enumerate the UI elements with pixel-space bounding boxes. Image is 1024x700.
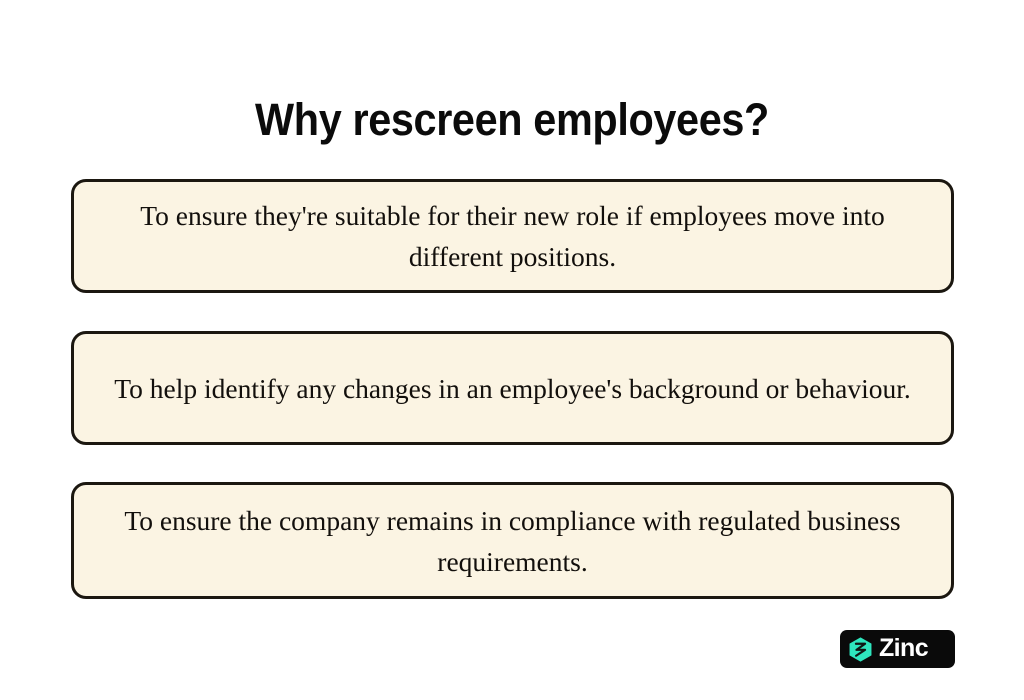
slide-canvas: Why rescreen employees? To ensure they'r… — [0, 0, 1024, 700]
zinc-hexagon-icon — [847, 636, 874, 663]
page-title: Why rescreen employees? — [41, 92, 983, 148]
statement-box-2: To help identify any changes in an emplo… — [71, 331, 954, 445]
statement-text: To ensure they're suitable for their new… — [100, 195, 925, 277]
statement-box-3: To ensure the company remains in complia… — [71, 482, 954, 599]
statement-text: To help identify any changes in an emplo… — [100, 368, 925, 409]
statement-text: To ensure the company remains in complia… — [100, 500, 925, 582]
statement-box-1: To ensure they're suitable for their new… — [71, 179, 954, 293]
zinc-wordmark: Zinc — [879, 636, 928, 661]
zinc-logo: Zinc — [840, 630, 955, 668]
